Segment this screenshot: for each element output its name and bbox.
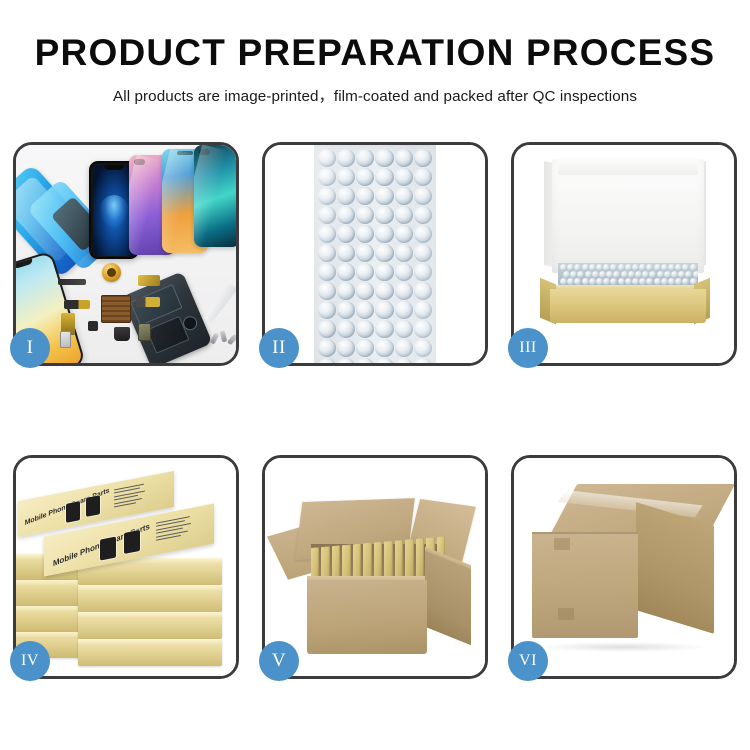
loudspeaker-icon xyxy=(114,327,130,341)
carton-front-icon xyxy=(307,580,427,654)
carton-seam-icon xyxy=(532,532,638,534)
inner-box-scene xyxy=(514,145,734,363)
phone-teal-icon xyxy=(194,145,236,247)
tweezers-icon xyxy=(202,283,236,323)
step-panel-5[interactable]: V xyxy=(262,455,488,679)
step-badge-2: II xyxy=(259,328,299,368)
step-image-1 xyxy=(16,145,236,363)
carton-side-icon xyxy=(636,502,714,634)
phone-parts-scene xyxy=(16,145,236,363)
step-image-5 xyxy=(265,458,485,676)
sim-tray-icon xyxy=(60,331,71,348)
step-badge-6: VI xyxy=(508,641,548,681)
step-image-2 xyxy=(265,145,485,363)
bubble-wrap-strip-icon xyxy=(314,145,436,363)
carton-tab-icon xyxy=(558,608,574,620)
process-steps-grid: I II xyxy=(13,142,737,679)
step-panel-3[interactable]: III xyxy=(511,142,737,366)
chip-grid-icon xyxy=(101,295,131,323)
flex-cable-icon xyxy=(64,300,90,309)
step-badge-3: III xyxy=(508,328,548,368)
sealed-carton-scene xyxy=(514,458,734,676)
carton-front-icon xyxy=(532,532,638,638)
battery-icon xyxy=(138,323,151,341)
box-flap-top-icon xyxy=(558,155,698,175)
step-badge-5: V xyxy=(259,641,299,681)
step-panel-6[interactable]: VI xyxy=(511,455,737,679)
step-panel-1[interactable]: I xyxy=(13,142,239,366)
screws-icon xyxy=(212,331,236,345)
step-image-6 xyxy=(514,458,734,676)
box-stack-scene: Mobile Phone Spare Parts Mobile Phone Sp… xyxy=(16,458,236,676)
step-panel-2[interactable]: II xyxy=(262,142,488,366)
step-badge-1: I xyxy=(10,328,50,368)
box-flap-back-icon xyxy=(552,159,704,273)
page-title: PRODUCT PREPARATION PROCESS xyxy=(0,34,750,73)
phone-internals-icon xyxy=(121,271,212,363)
step-image-4: Mobile Phone Spare Parts Mobile Phone Sp… xyxy=(16,458,236,676)
page-header: PRODUCT PREPARATION PROCESS All products… xyxy=(0,0,750,106)
carton-tab-icon xyxy=(554,538,570,550)
button-part-icon xyxy=(88,321,98,331)
carton-shadow xyxy=(540,642,706,652)
speaker-coil-icon xyxy=(102,263,121,282)
step-image-3 xyxy=(514,145,734,363)
earpiece-mesh-icon xyxy=(58,279,86,285)
box-front-icon xyxy=(550,289,706,323)
carton-filling-scene xyxy=(265,458,485,676)
step-badge-4: IV xyxy=(10,641,50,681)
bubble-wrap-scene xyxy=(265,145,485,363)
page-subtitle: All products are image-printed，film-coat… xyxy=(0,84,750,106)
flex-cable-icon xyxy=(138,275,160,286)
flex-cable-icon xyxy=(136,297,160,307)
step-panel-4[interactable]: Mobile Phone Spare Parts Mobile Phone Sp… xyxy=(13,455,239,679)
